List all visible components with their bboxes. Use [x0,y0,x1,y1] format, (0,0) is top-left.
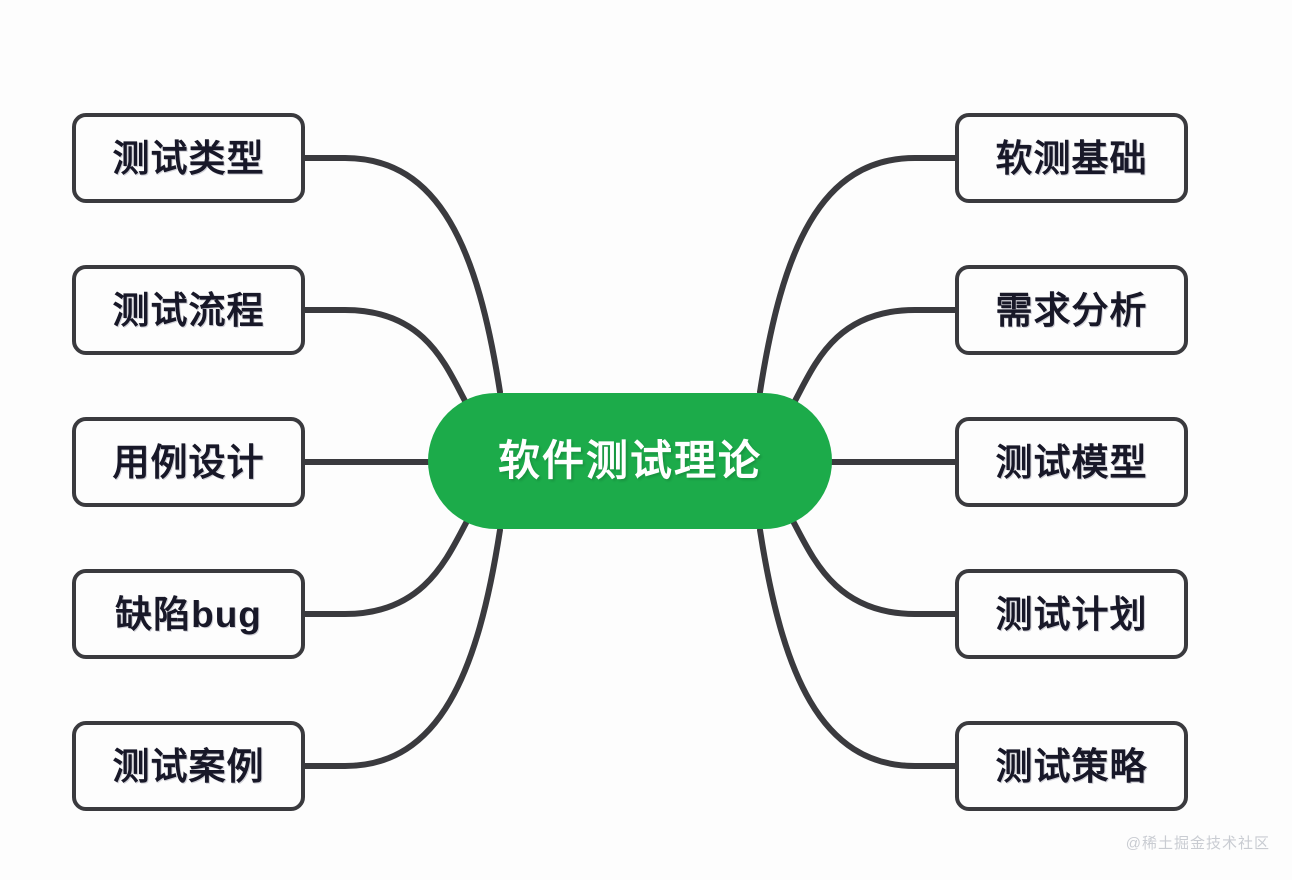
connector-right-5 [760,530,955,766]
connector-left-4 [305,512,472,614]
branch-label: 测试类型 [113,140,265,177]
branch-node-right-3[interactable]: 测试模型 [955,417,1188,507]
branch-label: 测试策略 [996,748,1148,785]
branch-node-right-1[interactable]: 软测基础 [955,113,1188,203]
connector-left-2 [305,310,470,410]
branch-label: 需求分析 [996,292,1148,329]
connector-left-1 [305,158,500,392]
branch-label: 测试模型 [996,444,1148,481]
branch-label: 缺陷bug [115,596,262,633]
branch-node-left-3[interactable]: 用例设计 [72,417,305,507]
connector-right-2 [790,310,955,410]
branch-node-left-4[interactable]: 缺陷bug [72,569,305,659]
branch-node-left-1[interactable]: 测试类型 [72,113,305,203]
branch-label: 测试计划 [996,596,1148,633]
branch-node-right-4[interactable]: 测试计划 [955,569,1188,659]
connector-right-4 [788,512,955,614]
branch-node-left-5[interactable]: 测试案例 [72,721,305,811]
connector-right-1 [760,158,955,392]
branch-label: 用例设计 [113,444,265,481]
center-root-label: 软件测试理论 [498,440,762,482]
branch-node-right-5[interactable]: 测试策略 [955,721,1188,811]
branch-node-right-2[interactable]: 需求分析 [955,265,1188,355]
branch-node-left-2[interactable]: 测试流程 [72,265,305,355]
connector-left-5 [305,530,500,766]
branch-label: 测试案例 [113,748,265,785]
watermark: @稀土掘金技术社区 [1126,832,1270,853]
branch-label: 软测基础 [996,140,1148,177]
branch-label: 测试流程 [113,292,265,329]
center-root-node[interactable]: 软件测试理论 [428,393,832,529]
mindmap-canvas: 测试类型 测试流程 用例设计 缺陷bug 测试案例 软测基础 需求分析 测试模型… [0,0,1292,880]
